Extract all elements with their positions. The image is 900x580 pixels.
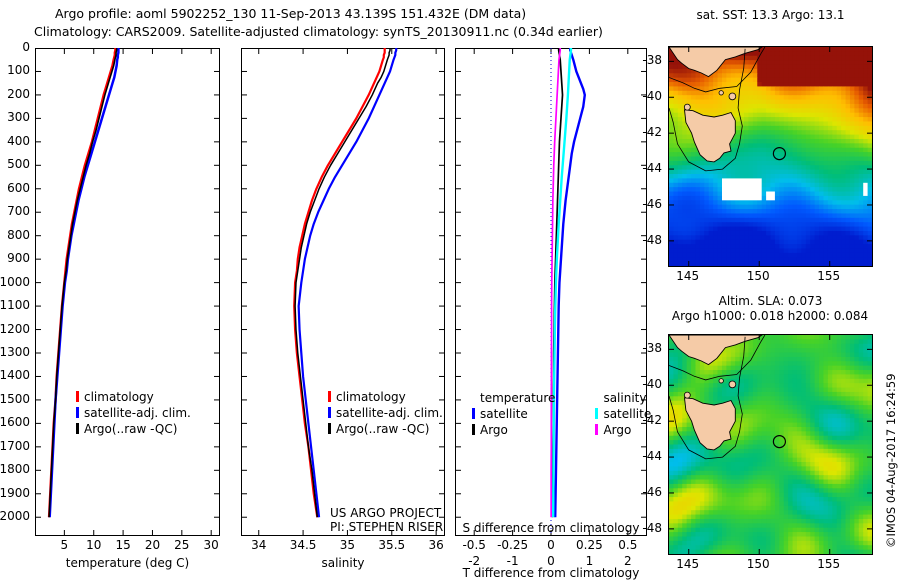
- s-difference-tick-label: -0.25: [497, 538, 528, 552]
- depth-tick-label: 1000: [0, 275, 30, 289]
- depth-tick-label: 900: [7, 251, 30, 265]
- sla-map-svg: [669, 335, 872, 554]
- depth-tick-label: 1800: [0, 462, 30, 476]
- temperature-axis-label: temperature (deg C): [35, 556, 220, 570]
- sst-lat-tick-label: -38: [642, 53, 662, 67]
- profile-title-line2: Climatology: CARS2009. Satellite-adjuste…: [34, 24, 603, 39]
- temperature-legend-entry: satellite-adj. clim.: [76, 405, 191, 421]
- depth-tick-label: 1500: [0, 392, 30, 406]
- sla-lat-tick-label: -42: [642, 413, 662, 427]
- principal-investigator-label: PI: STEPHEN RISER: [330, 520, 443, 534]
- difference-plot-svg: [455, 48, 647, 536]
- difference-legend: temperaturesatelliteArgosalinitysatellit…: [472, 390, 651, 438]
- temperature-legend-entry: Argo(..raw -QC): [76, 421, 191, 437]
- temperature-tick-label: 5: [61, 538, 69, 552]
- salinity-tick-label: 36: [428, 538, 443, 552]
- temperature-plot-svg: [35, 48, 220, 536]
- depth-tick-label: 1700: [0, 439, 30, 453]
- depth-tick-label: 500: [7, 157, 30, 171]
- sla-map-lat-ticklabels: -38-40-42-44-46-48: [630, 334, 666, 555]
- temperature-tick-label: 15: [115, 538, 130, 552]
- salinity-legend-entry: Argo(..raw -QC): [328, 421, 443, 437]
- s-difference-tick-label: -0.5: [462, 538, 485, 552]
- legend-color-swatch: [472, 424, 475, 435]
- sla-map-title-line1: Altim. SLA: 0.073: [668, 294, 873, 308]
- legend-label: climatology: [84, 390, 154, 404]
- sla-lat-tick-label: -40: [642, 377, 662, 391]
- sst-map-lon-ticklabels: 145150155: [668, 269, 873, 285]
- depth-tick-label: 1400: [0, 368, 30, 382]
- depth-tick-label: 0: [22, 40, 30, 54]
- sst-lat-tick-label: -40: [642, 89, 662, 103]
- sst-lat-tick-label: -42: [642, 125, 662, 139]
- sla-lat-tick-label: -38: [642, 341, 662, 355]
- difference-legend-entry: satellite: [472, 406, 555, 422]
- legend-color-swatch: [595, 408, 598, 419]
- legend-color-swatch: [328, 407, 331, 418]
- depth-tick-label: 1200: [0, 322, 30, 336]
- salinity-x-ticklabels: 3434.53535.536: [241, 538, 445, 554]
- profile-title-line1: Argo profile: aoml 5902252_130 11-Sep-20…: [55, 6, 526, 21]
- temperature-tick-label: 25: [174, 538, 189, 552]
- legend-color-swatch: [328, 391, 331, 402]
- imos-credit: ©IMOS 04-Aug-2017 16:24:59: [884, 373, 898, 548]
- salinity-axis-label: salinity: [241, 556, 445, 570]
- sla-lat-tick-label: -48: [642, 521, 662, 535]
- depth-tick-label: 800: [7, 228, 30, 242]
- legend-label: Argo(..raw -QC): [336, 422, 429, 436]
- sst-map[interactable]: [668, 46, 873, 267]
- legend-color-swatch: [328, 423, 331, 434]
- depth-tick-label: 1100: [0, 298, 30, 312]
- depth-tick-label: 300: [7, 110, 30, 124]
- depth-tick-label: 600: [7, 181, 30, 195]
- sla-lon-tick-label: 150: [747, 557, 770, 571]
- depth-tick-label: 400: [7, 134, 30, 148]
- legend-label: satellite-adj. clim.: [336, 406, 443, 420]
- temperature-legend: climatologysatellite-adj. clim.Argo(..ra…: [76, 389, 191, 437]
- salinity-tick-label: 34.5: [290, 538, 317, 552]
- difference-legend-entry: Argo: [472, 422, 555, 438]
- depth-tick-label: 700: [7, 204, 30, 218]
- sla-lat-tick-label: -46: [642, 485, 662, 499]
- difference-legend-header: temperature: [472, 390, 555, 406]
- sla-lon-tick-label: 145: [676, 557, 699, 571]
- sst-lat-tick-label: -44: [642, 161, 662, 175]
- temperature-y-ticklabels: 0100200300400500600700800900100011001200…: [0, 48, 33, 536]
- sst-lat-tick-label: -48: [642, 233, 662, 247]
- s-difference-tick-label: 0: [547, 538, 555, 552]
- depth-tick-label: 1300: [0, 345, 30, 359]
- legend-label: climatology: [336, 390, 406, 404]
- legend-color-swatch: [76, 423, 79, 434]
- sst-map-lat-ticklabels: -38-40-42-44-46-48: [630, 46, 666, 267]
- legend-label: Argo: [480, 423, 508, 437]
- legend-color-swatch: [76, 391, 79, 402]
- legend-color-swatch: [472, 408, 475, 419]
- depth-tick-label: 1600: [0, 415, 30, 429]
- sla-map-lon-ticklabels: 145150155: [668, 557, 873, 573]
- depth-tick-label: 1900: [0, 486, 30, 500]
- legend-label: Argo(..raw -QC): [84, 422, 177, 436]
- temperature-tick-label: 20: [145, 538, 160, 552]
- legend-color-swatch: [76, 407, 79, 418]
- sst-lat-tick-label: -46: [642, 197, 662, 211]
- sla-lat-tick-label: -44: [642, 449, 662, 463]
- temperature-tick-label: 10: [86, 538, 101, 552]
- salinity-tick-label: 35: [340, 538, 355, 552]
- salinity-legend-entry: satellite-adj. clim.: [328, 405, 443, 421]
- temperature-difference-axis-label: T difference from climatology: [455, 566, 647, 580]
- salinity-tick-label: 34: [251, 538, 266, 552]
- legend-label: satellite-adj. clim.: [84, 406, 191, 420]
- difference-x-ticklabels-top: -0.5-0.2500.250.5: [455, 538, 647, 554]
- sla-lon-tick-label: 155: [817, 557, 840, 571]
- difference-legend-column: temperaturesatelliteArgo: [472, 390, 555, 438]
- sla-map-title-line2: Argo h1000: 0.018 h2000: 0.084: [650, 309, 890, 323]
- salinity-tick-label: 35.5: [378, 538, 405, 552]
- sst-map-title: sat. SST: 13.3 Argo: 13.1: [668, 8, 873, 22]
- salinity-difference-axis-label: S difference from climatology: [455, 521, 647, 535]
- sla-map[interactable]: [668, 334, 873, 555]
- temperature-legend-entry: climatology: [76, 389, 191, 405]
- legend-label: Argo: [603, 423, 631, 437]
- depth-tick-label: 200: [7, 87, 30, 101]
- sst-lon-tick-label: 145: [676, 269, 699, 283]
- us-argo-project-label: US ARGO PROJECT: [330, 506, 441, 520]
- depth-tick-label: 100: [7, 63, 30, 77]
- temperature-tick-label: 30: [204, 538, 219, 552]
- legend-label: satellite: [480, 407, 528, 421]
- s-difference-tick-label: 0.25: [576, 538, 603, 552]
- sst-map-svg: [669, 47, 872, 266]
- salinity-legend-entry: climatology: [328, 389, 443, 405]
- salinity-plot-svg: [241, 48, 445, 536]
- depth-tick-label: 2000: [0, 509, 30, 523]
- sst-lon-tick-label: 150: [747, 269, 770, 283]
- legend-color-swatch: [595, 424, 598, 435]
- salinity-legend: climatologysatellite-adj. clim.Argo(..ra…: [328, 389, 443, 437]
- sst-lon-tick-label: 155: [817, 269, 840, 283]
- temperature-x-ticklabels: 51015202530: [35, 538, 220, 554]
